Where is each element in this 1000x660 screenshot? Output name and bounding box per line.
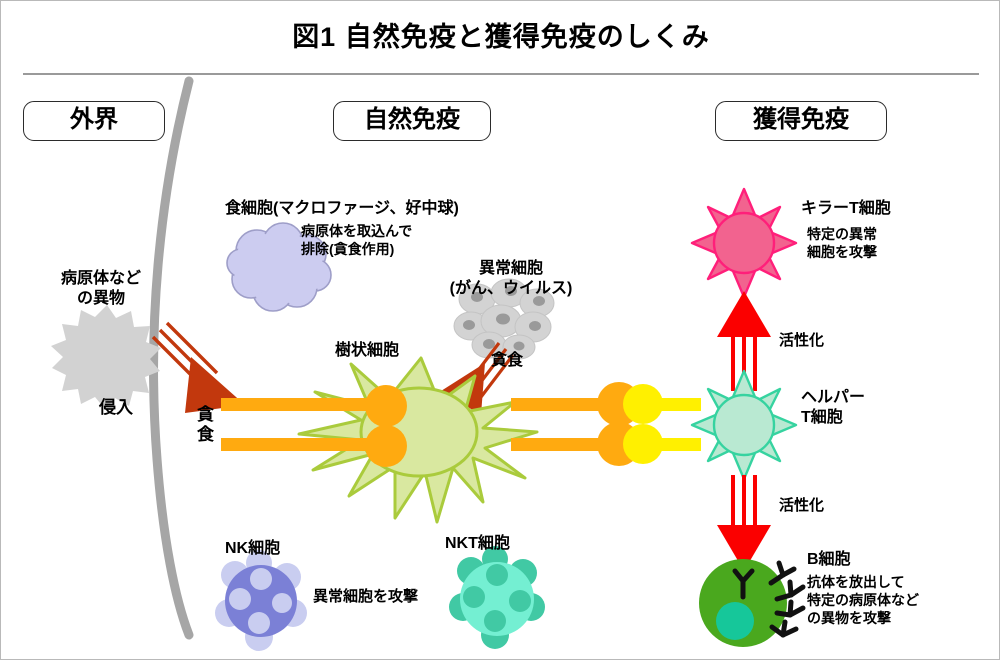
pathogen-label: 病原体など の異物	[31, 269, 171, 310]
nk-cell-label: NK細胞	[225, 539, 280, 559]
page-title: 図1 自然免疫と獲得免疫のしくみ	[1, 15, 1000, 54]
pathogen-blob	[47, 301, 167, 411]
antigen-presentation-bars	[221, 386, 701, 466]
dendritic-cell-label: 樹状細胞	[335, 341, 399, 361]
diagram-canvas: 図1 自然免疫と獲得免疫のしくみ 外界 自然免疫 獲得免疫 病原体など の異物 …	[0, 0, 1000, 660]
helper-t-cell-label: ヘルパー T細胞	[801, 388, 865, 429]
phagocytosis-label-left: 貪 食	[197, 405, 215, 444]
b-cell	[691, 553, 811, 657]
b-cell-label: B細胞	[807, 550, 851, 570]
killer-t-cell-description: 特定の異常 細胞を攻撃	[807, 226, 877, 262]
killer-t-cell	[689, 187, 799, 299]
helper-t-cell	[689, 369, 799, 481]
killer-t-cell-label: キラーT細胞	[801, 199, 891, 219]
abnormal-cell-label: 異常細胞 (がん、ウイルス)	[431, 259, 591, 300]
activation-label-b-cell: 活性化	[779, 496, 824, 515]
phagocyte-title-label: 食細胞(マクロファージ、好中球)	[225, 199, 459, 219]
nk-cell	[213, 553, 309, 649]
receptor-knob-lower	[363, 423, 409, 469]
b-cell-description: 抗体を放出して 特定の病原体など の異物を攻撃	[807, 574, 919, 628]
phagocyte-description-label: 病原体を取込んで 排除(貪食作用)	[301, 223, 412, 259]
invasion-label: 侵入	[99, 397, 133, 419]
zone-label-adaptive-immunity: 獲得免疫	[715, 101, 887, 141]
abnormal-cell-attack-label: 異常細胞を攻撃	[313, 587, 418, 606]
nkt-cell-label: NKT細胞	[445, 534, 510, 554]
zone-label-innate-immunity: 自然免疫	[333, 101, 491, 141]
title-divider	[23, 73, 979, 75]
nkt-cell	[449, 549, 545, 647]
activation-label-killer-t: 活性化	[779, 331, 824, 350]
